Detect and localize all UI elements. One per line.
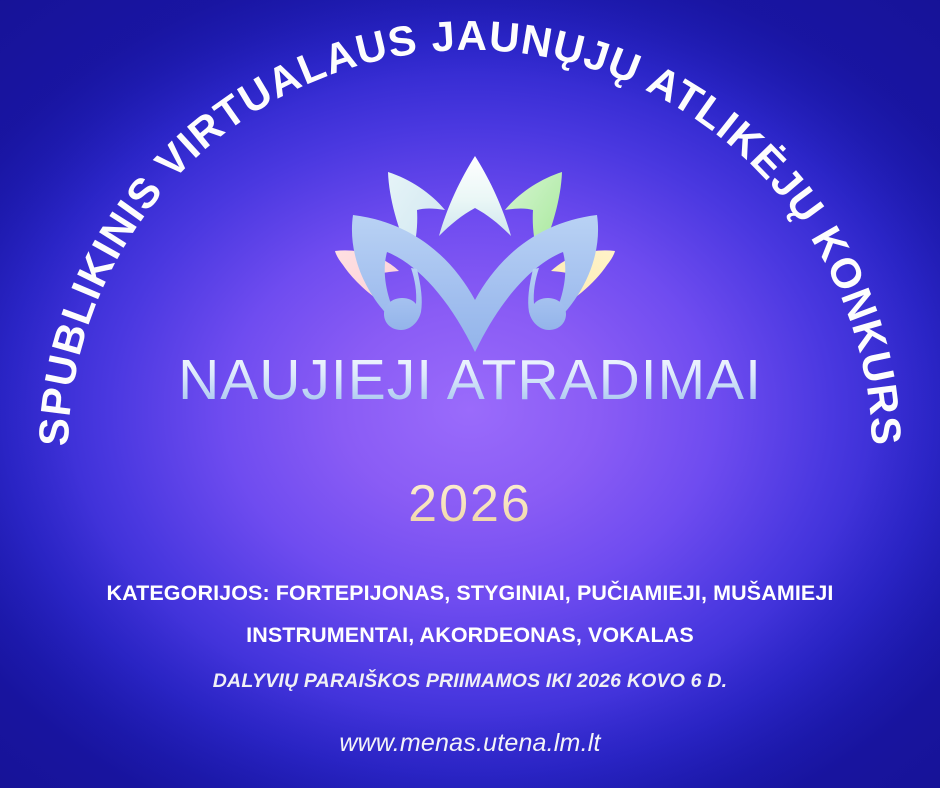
categories-line-1: KATEGORIJOS: FORTEPIJONAS, STYGINIAI, PU…: [70, 573, 870, 615]
deadline-text: DALYVIŲ PARAIŠKOS PRIIMAMOS IKI 2026 KOV…: [0, 670, 940, 693]
lotus-music-note-body: [352, 215, 598, 352]
petal-top-center-white: [439, 156, 511, 236]
poster-canvas: RESPUBLIKINIS VIRTUALAUS JAUNŲJŲ ATLIKĖJ…: [0, 0, 940, 788]
website-url[interactable]: www.menas.utena.lm.lt: [0, 729, 940, 758]
naujieji-atradimai-logo: [325, 152, 625, 357]
categories-line-2: INSTRUMENTAI, AKORDEONAS, VOKALAS: [70, 615, 870, 657]
lotus-music-note-icon: [325, 152, 625, 357]
brand-name: NAUJIEJI ATRADIMAI: [0, 352, 940, 409]
year-label: 2026: [0, 474, 940, 534]
categories-block: KATEGORIJOS: FORTEPIJONAS, STYGINIAI, PU…: [70, 573, 870, 657]
